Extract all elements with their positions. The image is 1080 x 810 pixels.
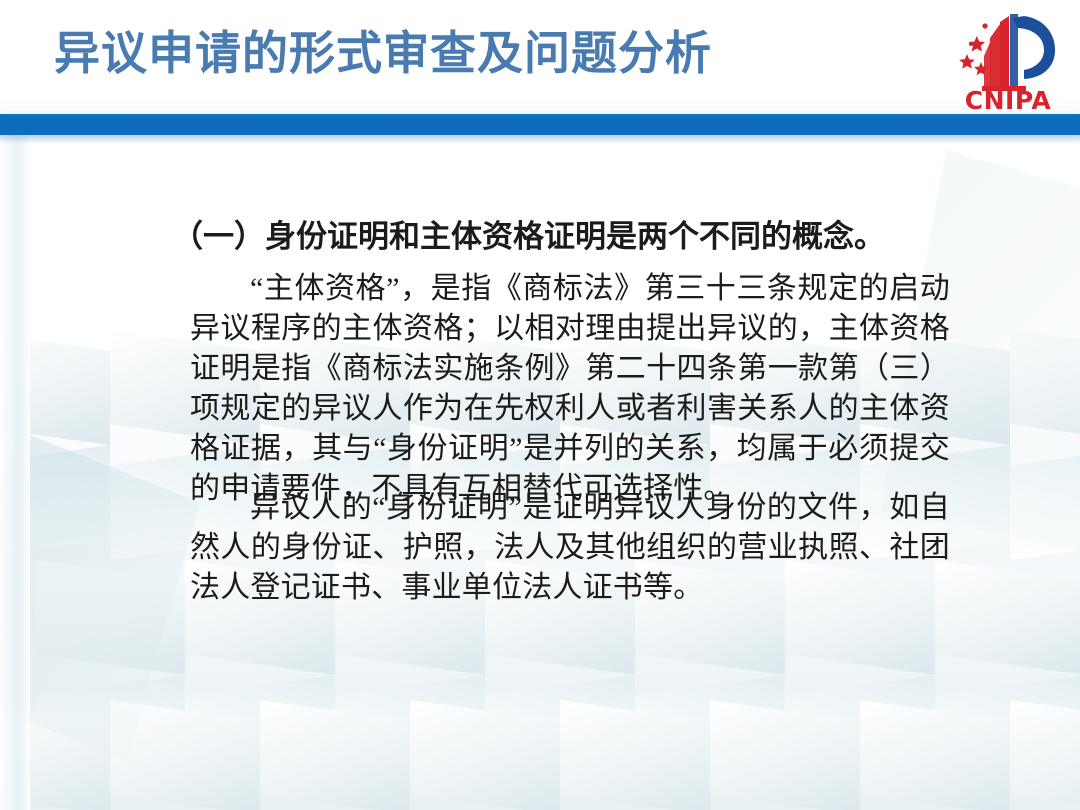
body-paragraph-1: “主体资格”，是指《商标法》第三十三条规定的启动异议程序的主体资格；以相对理由提… (190, 269, 950, 509)
presentation-slide: 异议申请的形式审查及问题分析 (0, 0, 1080, 810)
cnipa-wordmark: CNIPA (954, 86, 1062, 115)
accent-bar-shadow (0, 135, 1080, 144)
cnipa-logo: CNIPA (954, 10, 1062, 114)
slide-body: （一）身份证明和主体资格证明是两个不同的概念。 “主体资格”，是指《商标法》第三… (0, 135, 1080, 810)
header-accent-bar (0, 114, 1080, 135)
body-paragraph-2: 异议人的“身份证明”是证明异议人身份的文件，如自然人的身份证、护照，法人及其他组… (190, 488, 950, 608)
section-heading: （一）身份证明和主体资格证明是两个不同的概念。 (172, 218, 885, 256)
page-title: 异议申请的形式审查及问题分析 (54, 22, 712, 84)
